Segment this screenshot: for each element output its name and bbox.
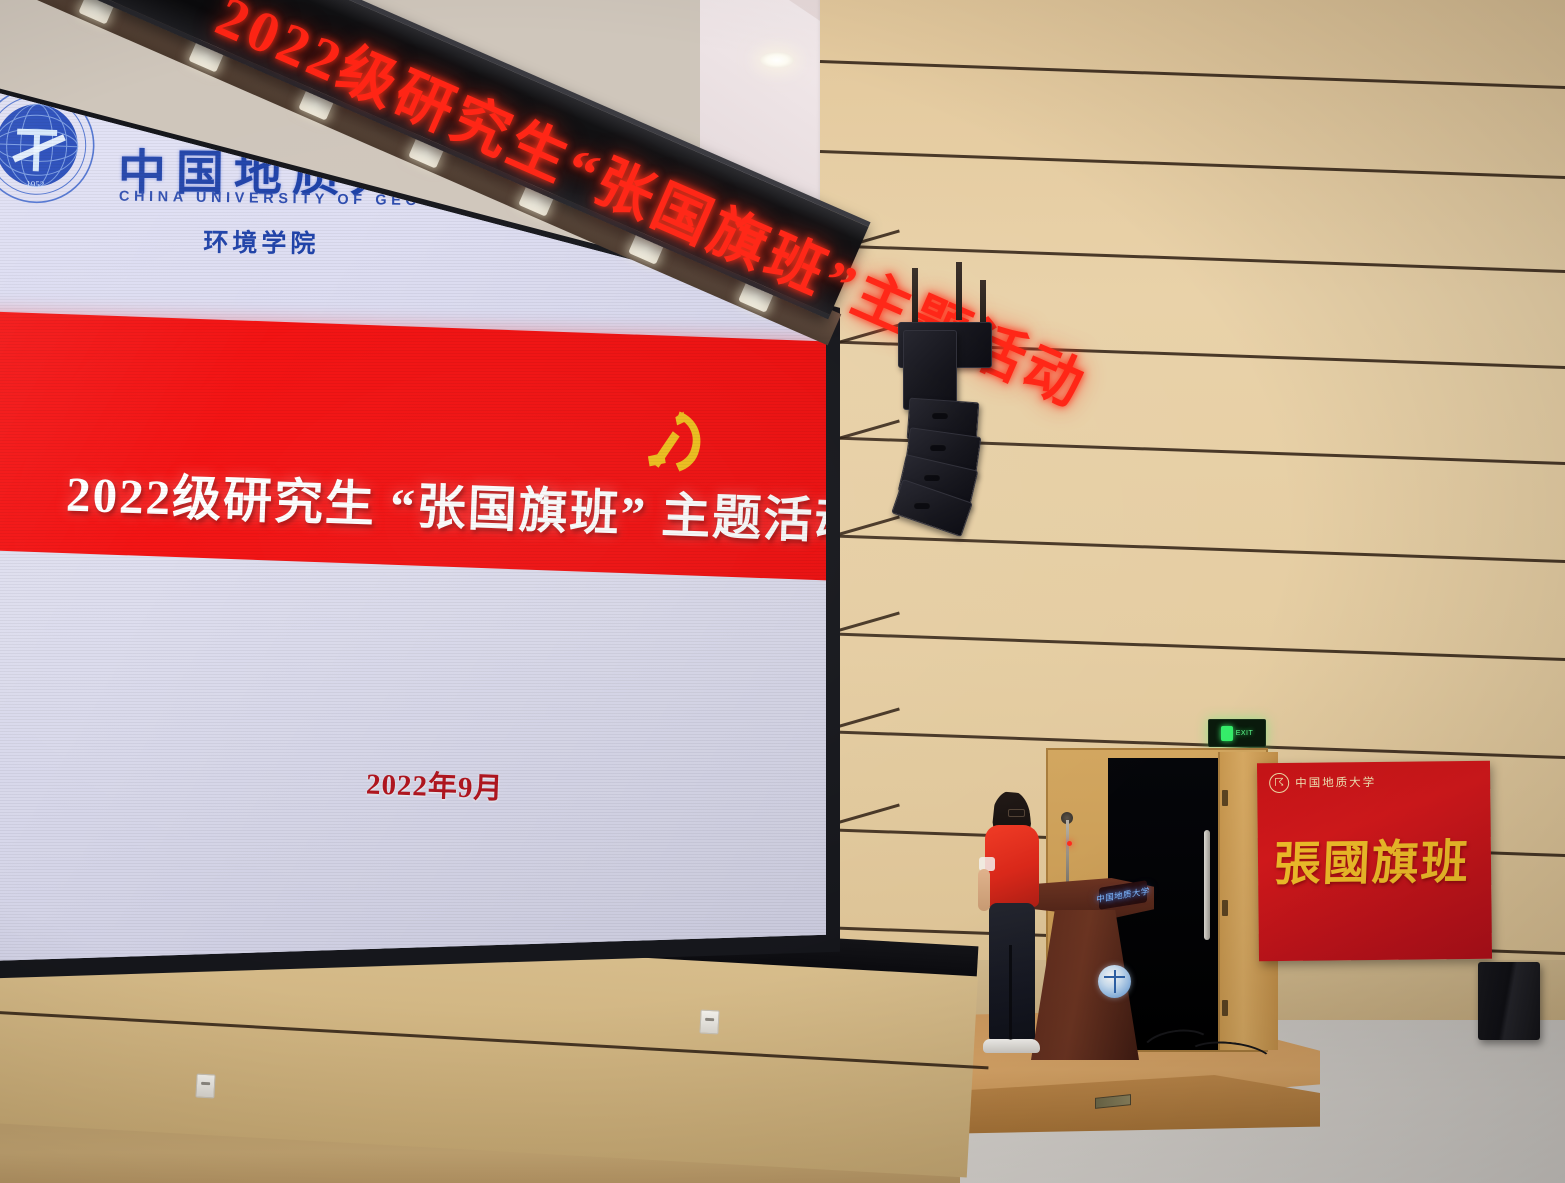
speaker-rod-1 — [912, 268, 918, 326]
banner-header: ☈ 中国地质大学 — [1269, 772, 1376, 793]
person-dark-pants — [989, 903, 1035, 1041]
speaker-rod-2 — [956, 262, 962, 320]
door-hinge-bottom — [1222, 1000, 1228, 1016]
cug-round-emblem-icon — [1098, 965, 1131, 998]
wall-slat-line-2 — [820, 150, 1565, 180]
wall-slat-line-3 — [820, 244, 1565, 274]
speaker-rod-3 — [980, 280, 986, 328]
door-hinge-top — [1222, 790, 1228, 806]
banner-org-name: 中国地质大学 — [1295, 774, 1376, 791]
array-port-1 — [932, 412, 948, 419]
microphone-status-led — [1067, 841, 1072, 846]
running-man-icon — [1221, 726, 1233, 741]
array-port-2 — [930, 444, 946, 451]
wall-power-outlet-1 — [195, 1074, 215, 1099]
door-handle[interactable] — [1204, 830, 1210, 940]
person-leg-separation — [1009, 945, 1012, 1041]
speaker-person — [975, 795, 1045, 1065]
wall-slat-line-1 — [820, 60, 1565, 90]
cug-seal-icon: ☈ — [1269, 773, 1289, 793]
slide-date: 2022年9月 — [365, 760, 504, 807]
floor-speaker-cabinet — [1478, 962, 1540, 1040]
red-class-banner: ☈ 中国地质大学 張國旗班 — [1257, 761, 1492, 961]
exit-sign-label: EXIT — [1236, 730, 1254, 737]
wall-slat-line-6 — [820, 534, 1565, 564]
door-hinge-mid — [1222, 900, 1228, 916]
person-glasses — [1008, 809, 1025, 817]
emergency-exit-sign: EXIT — [1208, 719, 1266, 747]
person-shoe-right — [1007, 1039, 1040, 1053]
wall-power-outlet-2 — [699, 1010, 719, 1035]
wall-slat-line-7 — [820, 632, 1565, 662]
podium-nameplate-text: 中国地质大学 — [1096, 885, 1149, 905]
array-port-3 — [924, 474, 940, 481]
person-arm — [978, 869, 990, 911]
auditorium-scene: 1952 中国地质大学 CHINA UNIVERSITY OF GEOSCIEN… — [0, 0, 1565, 1183]
banner-main-text: 張國旗班 — [1273, 823, 1476, 894]
array-port-4 — [914, 502, 930, 509]
